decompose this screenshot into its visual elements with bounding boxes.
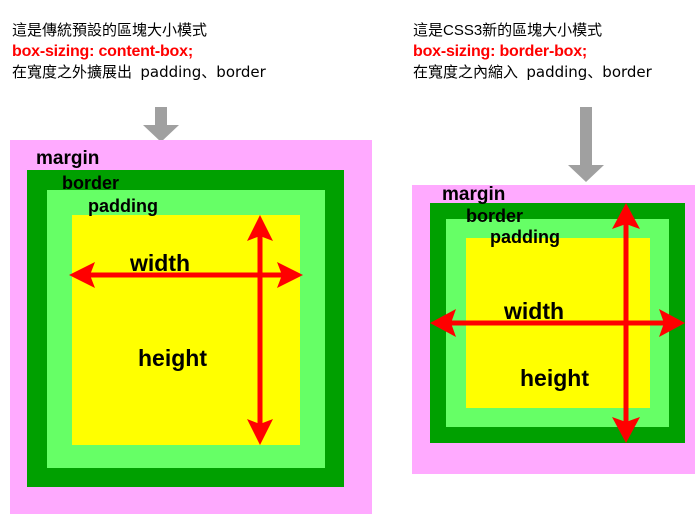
left-box-model-diagram: margin border padding width height [10, 140, 372, 514]
right-caption-line-3-suffix: padding、border [526, 63, 651, 81]
left-caption-line-3: 在寬度之外擴展出 padding、border [12, 62, 266, 83]
right-padding-label: padding [490, 227, 560, 248]
left-measurement-arrows [10, 140, 372, 514]
left-caption-code: box-sizing: content-box; [12, 41, 266, 62]
left-caption-line-3-prefix: 在寬度之外擴展出 [12, 64, 132, 81]
right-caption-line-3-prefix: 在寬度之內縮入 [413, 64, 518, 81]
left-margin-label: margin [36, 148, 99, 170]
right-margin-label: margin [442, 184, 505, 206]
right-arrow-down-icon [565, 107, 607, 188]
diagram-canvas: 這是傳統預設的區塊大小模式 box-sizing: content-box; 在… [0, 0, 700, 514]
left-caption: 這是傳統預設的區塊大小模式 box-sizing: content-box; 在… [12, 20, 266, 83]
right-caption-line-1: 這是CSS3新的區塊大小模式 [413, 20, 652, 41]
right-caption-code: box-sizing: border-box; [413, 41, 652, 62]
right-height-label: height [520, 365, 589, 392]
left-caption-line-1: 這是傳統預設的區塊大小模式 [12, 20, 266, 41]
left-border-label: border [62, 173, 119, 194]
right-box-model-diagram: margin border padding width height [412, 185, 695, 474]
left-height-label: height [138, 345, 207, 372]
right-width-label: width [504, 298, 564, 325]
right-border-label: border [466, 206, 523, 227]
right-caption: 這是CSS3新的區塊大小模式 box-sizing: border-box; 在… [413, 20, 652, 83]
left-padding-label: padding [88, 196, 158, 217]
left-width-label: width [130, 250, 190, 277]
right-caption-line-3: 在寬度之內縮入 padding、border [413, 62, 652, 83]
left-caption-line-3-suffix: padding、border [140, 63, 265, 81]
